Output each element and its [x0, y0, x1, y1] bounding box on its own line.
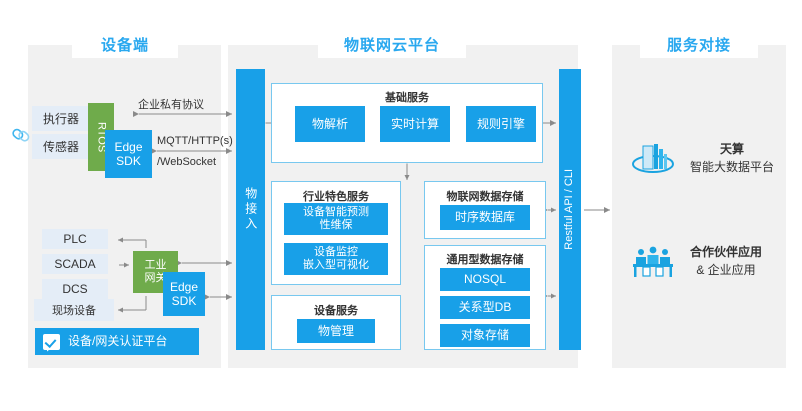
group-label-iot-data-storage: 物联网数据存储 — [424, 188, 546, 204]
link-icon — [8, 122, 34, 148]
protocol-mqtt: MQTT/HTTP(s) — [157, 135, 233, 147]
storage-relational-db: 关系型DB — [440, 296, 530, 319]
predictive-line2: 性维保 — [320, 219, 353, 231]
service-item-partner: 合作伙伴应用 & 企业应用 — [630, 243, 762, 279]
monitoring-line1: 设备监控 — [314, 246, 358, 258]
bigdata-platform-icon — [630, 138, 676, 178]
service-thing-parsing: 物解析 — [295, 106, 365, 142]
thing-access-label: 物接入 — [243, 187, 257, 232]
partner-app-text: 合作伙伴应用 & 企业应用 — [690, 243, 762, 279]
storage-nosql: NOSQL — [440, 268, 530, 291]
group-label-general-data-storage: 通用型数据存储 — [424, 251, 546, 267]
service-device-monitoring: 设备监控 嵌入型可视化 — [284, 243, 388, 275]
section-title-cloud: 物联网云平台 — [318, 30, 466, 58]
service-thing-management: 物管理 — [297, 319, 375, 343]
check-icon — [43, 334, 60, 350]
group-label-basic-service: 基础服务 — [271, 89, 543, 105]
edge-sdk2-label: Edge SDK — [170, 280, 198, 309]
section-title-device: 设备端 — [72, 30, 178, 58]
device-actuator: 执行器 — [32, 106, 90, 131]
edge-sdk-label: Edge SDK — [114, 140, 142, 169]
protocol-websocket: /WebSocket — [157, 156, 216, 168]
bigdata-platform-text: 天算 智能大数据平台 — [690, 140, 774, 176]
predictive-line1: 设备智能预测 — [303, 206, 369, 218]
diagram-canvas: 设备端 物联网云平台 服务对接 执行器 传感器 RTOS Edge SDK 企业… — [0, 0, 802, 411]
gateway-line1: 工业 — [145, 259, 167, 271]
service-rule-engine: 规则引擎 — [466, 106, 536, 142]
storage-timeseries-db: 时序数据库 — [440, 205, 530, 230]
protocol-private: 企业私有协议 — [138, 96, 204, 112]
service-item-bigdata: 天算 智能大数据平台 — [630, 138, 774, 178]
device-field-device: 现场设备 — [34, 299, 114, 321]
predictive-maintenance-label: 设备智能预测 性维保 — [303, 206, 369, 232]
edge-sdk-line1: Edge — [114, 140, 142, 154]
restful-api-bar: Restful API / CLI — [559, 69, 581, 350]
partner-line1: 合作伙伴应用 — [690, 243, 762, 261]
partner-meeting-icon — [630, 243, 676, 279]
gateway-edge-sdk: Edge SDK — [163, 272, 205, 316]
auth-platform-label: 设备/网关认证平台 — [68, 334, 167, 348]
restful-api-label: Restful API / CLI — [563, 169, 576, 250]
group-label-device-service: 设备服务 — [271, 302, 401, 318]
device-auth-platform: 设备/网关认证平台 — [35, 328, 199, 355]
section-title-service: 服务对接 — [640, 30, 758, 58]
device-scada: SCADA — [42, 254, 108, 274]
monitoring-line2: 嵌入型可视化 — [303, 259, 369, 271]
device-dcs: DCS — [42, 279, 108, 299]
edge-sdk-line2: SDK — [116, 154, 141, 168]
partner-line2: & 企业应用 — [696, 263, 755, 277]
storage-object-storage: 对象存储 — [440, 324, 530, 347]
bigdata-line2: 智能大数据平台 — [690, 160, 774, 174]
device-sensor: 传感器 — [32, 134, 90, 159]
edge-sdk2-line2: SDK — [172, 294, 197, 308]
bigdata-line1: 天算 — [690, 140, 774, 158]
device-plc: PLC — [42, 229, 108, 249]
group-label-industry-service: 行业特色服务 — [271, 188, 401, 204]
edge-sdk2-line1: Edge — [170, 280, 198, 294]
service-realtime-compute: 实时计算 — [380, 106, 450, 142]
panel-service-docking — [612, 45, 786, 368]
device-monitoring-label: 设备监控 嵌入型可视化 — [303, 246, 369, 272]
service-predictive-maintenance: 设备智能预测 性维保 — [284, 203, 388, 235]
thing-access-bar: 物接入 — [236, 69, 265, 350]
device-edge-sdk: Edge SDK — [105, 130, 152, 178]
